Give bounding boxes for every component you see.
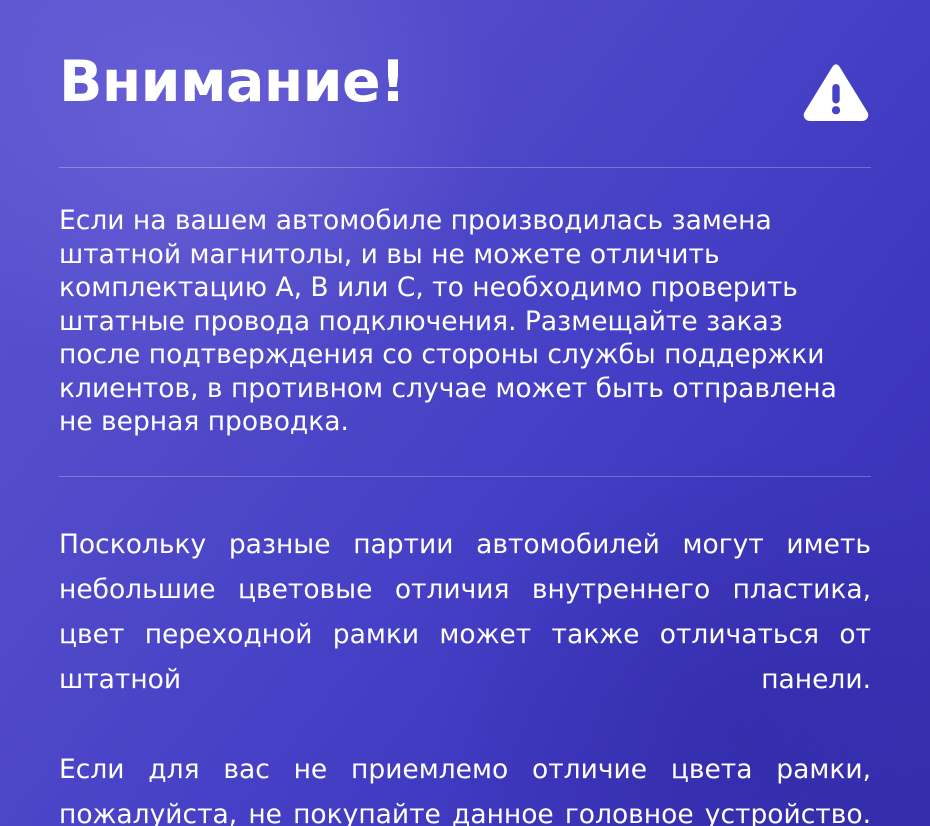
secondary-notice-paragraph-2: Если для вас не приемлемо отличие цвета … [59, 747, 871, 826]
page-title: Внимание! [59, 52, 405, 114]
divider-top [59, 167, 871, 168]
warning-triangle-icon [803, 64, 869, 127]
warning-banner: Внимание! Если на вашем автомобиле произ… [0, 0, 930, 826]
banner-header: Внимание! [59, 0, 871, 127]
primary-notice-block: Если на вашем автомобиле производилась з… [59, 204, 871, 439]
secondary-notice-paragraph-1: Поскольку разные партии автомобилей могу… [59, 522, 871, 747]
secondary-notice-block: Поскольку разные партии автомобилей могу… [59, 522, 871, 826]
primary-notice-paragraph: Если на вашем автомобиле производилась з… [59, 204, 871, 439]
divider-middle [59, 476, 871, 477]
banner-content: Внимание! Если на вашем автомобиле произ… [0, 0, 930, 826]
